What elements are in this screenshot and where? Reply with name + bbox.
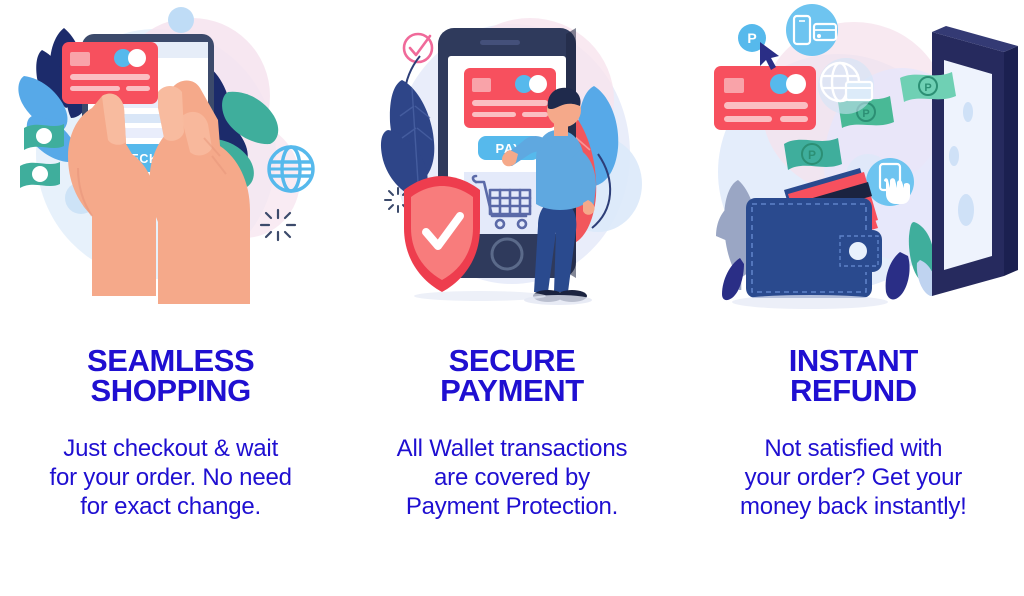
banknote-low: P [784, 138, 842, 170]
feature-headline: INSTANT REFUND [683, 346, 1024, 407]
ground-shadow [414, 291, 546, 301]
body-line-1: All Wallet transactions [357, 434, 667, 463]
body-line-2: for your order. No need [16, 463, 326, 492]
banknote-currency-1: P [925, 82, 932, 94]
feature-headline: SECURE PAYMENT [341, 346, 682, 407]
tablet-phone [932, 26, 1018, 296]
illustration-person-paying-on-phone-with-shield: PAY [341, 0, 682, 318]
illustration-wallet-money-flying-into-phone: P P P [683, 0, 1024, 318]
body-line-1: Not satisfied with [698, 434, 1008, 463]
feature-body-copy: Just checkout & wait for your order. No … [16, 434, 326, 522]
feature-seamless-shopping: CHECKOUT [0, 0, 341, 596]
cursor-currency-label: P [748, 30, 757, 46]
leaf-navy-small-left [722, 258, 744, 300]
credit-card [714, 66, 816, 130]
body-line-3: Payment Protection. [357, 492, 667, 521]
credit-card [464, 68, 556, 128]
tap-hand-icon [866, 158, 914, 206]
banknote-currency-2: P [863, 108, 870, 120]
body-line-3: for exact change. [16, 492, 326, 521]
feature-instant-refund: P P P [683, 0, 1024, 596]
features-board: CHECKOUT [0, 0, 1024, 596]
banknote-entering: P [900, 72, 956, 102]
headline-line-2: REFUND [683, 376, 1024, 406]
body-line-2: are covered by [357, 463, 667, 492]
feature-body-copy: Not satisfied with your order? Get your … [698, 434, 1008, 522]
headline-line-2: PAYMENT [341, 376, 682, 406]
mobile-payment-icon [786, 4, 838, 56]
feature-secure-payment: PAY [341, 0, 682, 596]
illustration-hands-holding-phone-checkout: CHECKOUT [0, 0, 341, 318]
cursor-icon: P [738, 24, 779, 70]
headline-line-2: SHOPPING [0, 376, 341, 406]
body-line-1: Just checkout & wait [16, 434, 326, 463]
banknote-currency-3: P [808, 148, 816, 162]
globe-card-icon [818, 58, 874, 114]
feature-headline: SEAMLESS SHOPPING [0, 346, 341, 407]
wallet-shadow [732, 295, 888, 309]
feature-body-copy: All Wallet transactions are covered by P… [357, 434, 667, 522]
body-line-2: your order? Get your [698, 463, 1008, 492]
body-line-3: money back instantly! [698, 492, 1008, 521]
